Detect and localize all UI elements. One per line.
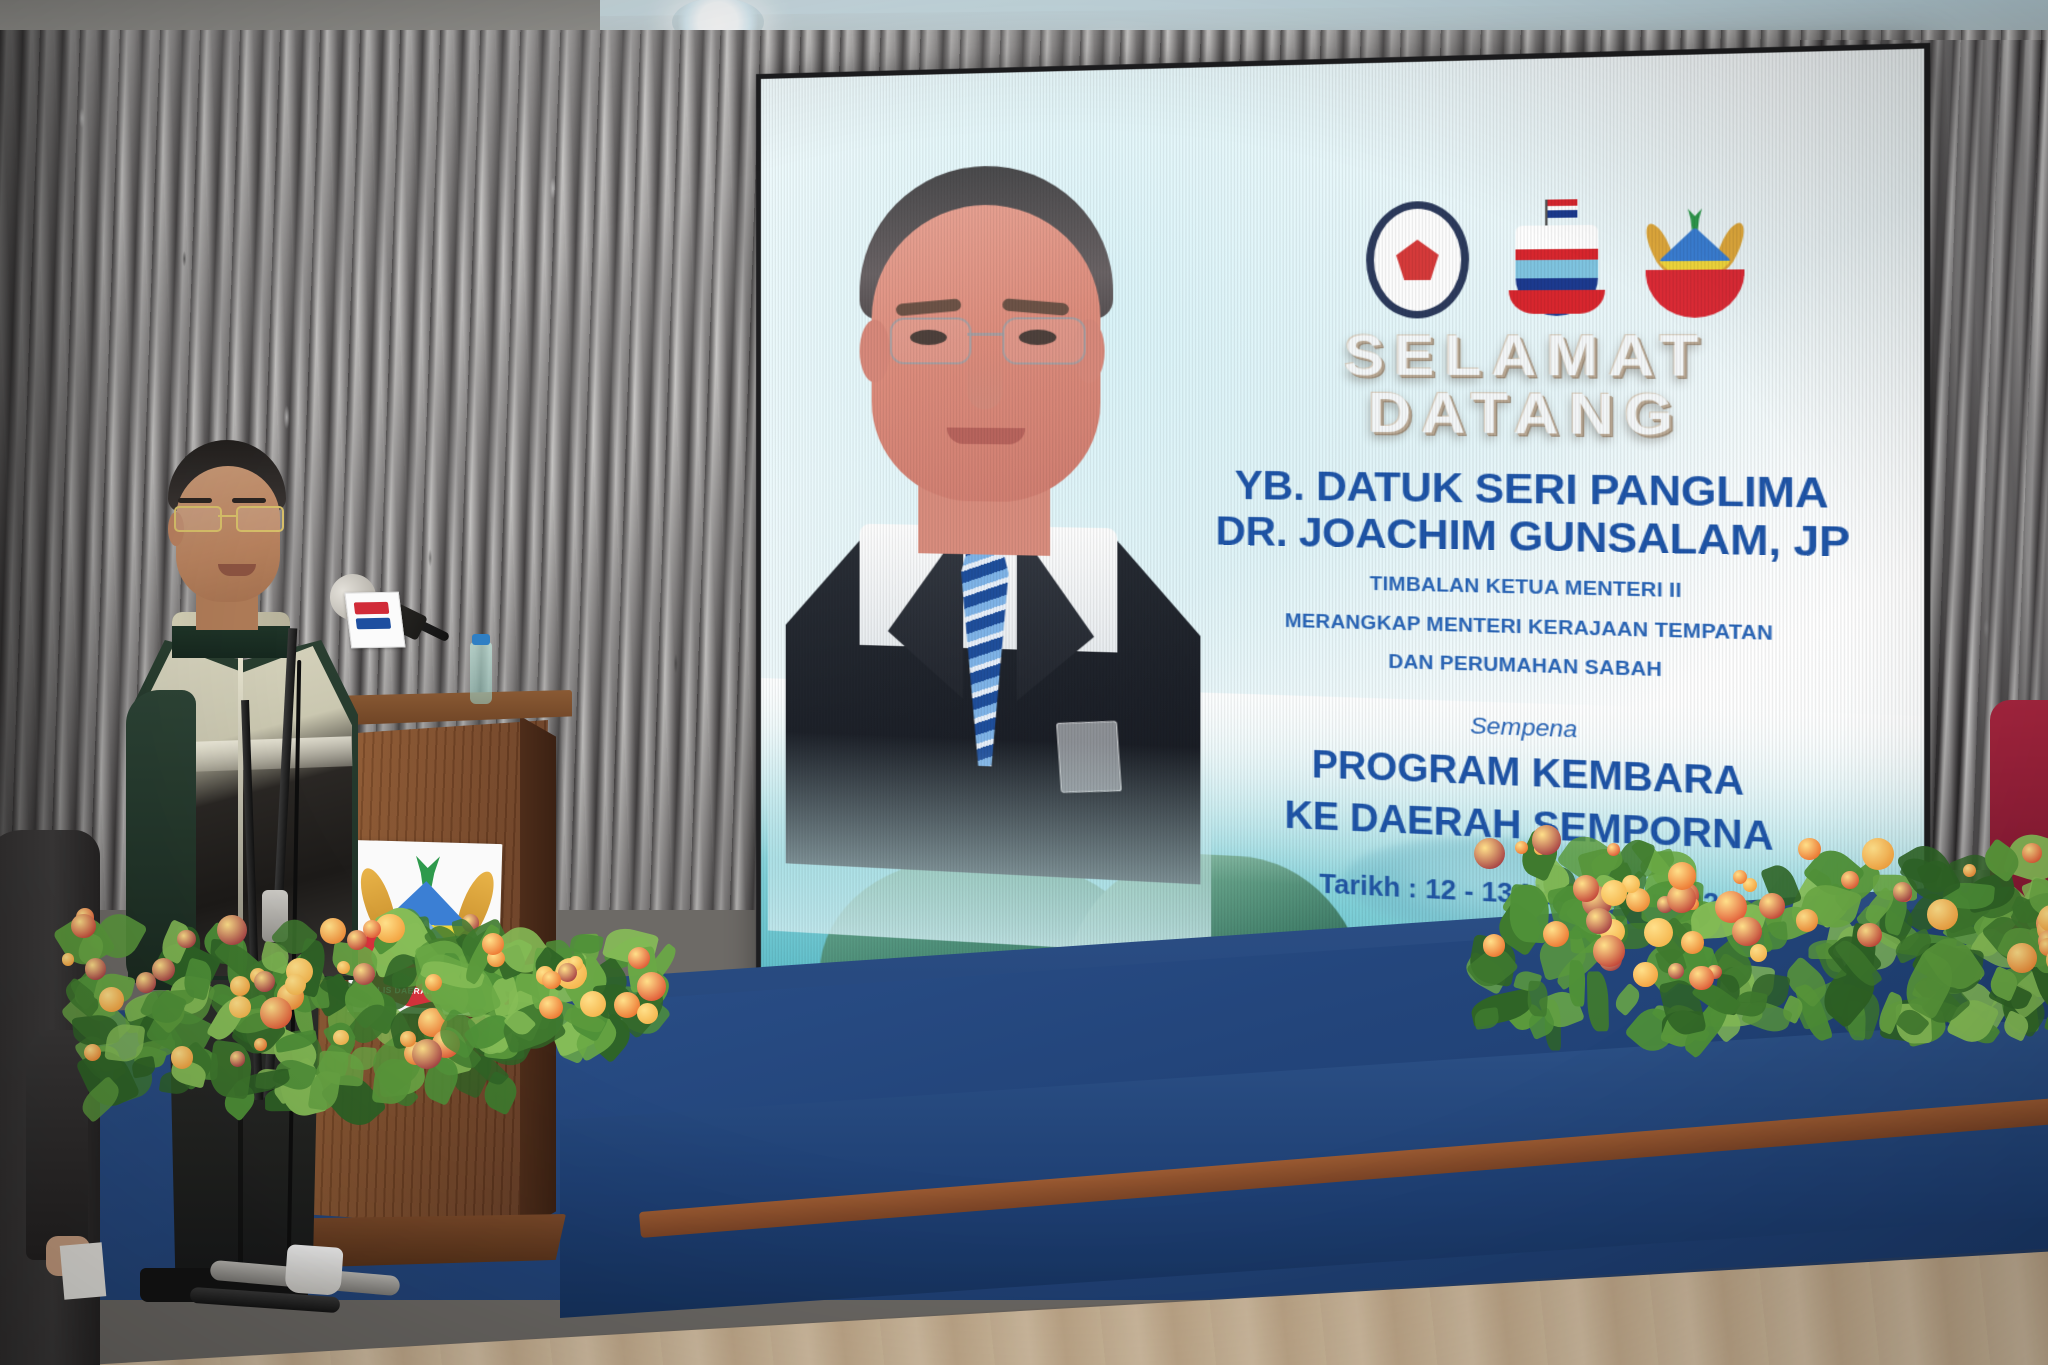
flower-bloom [400,1031,415,1046]
flower-bloom [1796,909,1819,932]
flower-bloom [1927,899,1958,930]
flower-bloom [71,914,96,939]
water-bottle[interactable] [470,642,492,704]
foreground-person-paper [60,1242,107,1299]
speaker-glasses-icon [174,506,282,530]
flower-bloom [1483,934,1505,956]
flower-bloom [482,933,504,955]
ministry-crest-icon [1366,201,1469,319]
speaker-eyebrow [178,498,212,503]
flower-bloom [1633,962,1658,987]
flower-bloom [1607,843,1620,856]
foliage-leaf [1526,981,1548,1017]
honoree-title-line1: TIMBALAN KETUA MENTERI II [1192,567,1877,607]
flower-bloom [412,1039,442,1069]
flower-bloom [84,1044,101,1061]
mic-flag-stripe-blue [356,618,392,630]
flower-bloom [254,971,275,992]
flower-bloom [1593,935,1625,967]
water-bottle-cap [472,634,490,645]
foliage-leaf [1763,921,1789,950]
flower-bloom [260,997,292,1029]
foliage-leaf [1568,960,1586,1006]
flower-bloom [1474,838,1505,869]
flower-bloom [637,1003,658,1024]
flower-bloom [1543,921,1569,947]
flower-bloom [1681,931,1704,954]
welcome-heading: SELAMAT DATANG [1192,326,1877,446]
portrait-glasses-bridge [967,333,1004,336]
flower-bloom [539,996,562,1019]
flower-bloom [1750,944,1768,962]
flower-bloom [1759,893,1785,919]
portrait-mouth [947,428,1025,445]
flower-bloom [230,1051,245,1066]
flower-bloom [285,974,306,995]
flower-bloom [85,958,107,980]
flower-bloom [1532,825,1561,854]
flower-bloom [580,991,606,1017]
mic-flag [344,592,405,649]
flower-bloom [99,987,124,1012]
event-stage-photo: SELAMAT DATANG YB. DATUK SERI PANGLIMA D… [0,0,2048,1365]
speaker-eyebrow [232,498,266,503]
mic-flag-stripe-red [354,602,390,615]
portrait-glasses-icon [1002,317,1085,364]
flower-bloom [2022,843,2042,863]
portrait-fade [768,730,1211,956]
flower-bloom [637,972,666,1001]
honoree-title-line2: MERANGKAP MENTERI KERAJAAN TEMPATAN [1192,605,1877,648]
speaker-mouth [218,564,256,576]
portrait-glasses-icon [890,317,972,364]
flower-bloom [1668,963,1684,979]
flower-bloom [217,915,247,945]
foliage-leaf [1612,982,1644,1015]
flower-bloom [1862,838,1894,870]
flower-bloom [1798,838,1820,860]
flower-bloom [1857,923,1882,948]
semporna-council-crest-icon [1646,212,1745,318]
vip-portrait [768,162,1211,883]
flower-bloom [542,971,561,990]
foliage-leaf [1587,972,1609,1032]
flower-bloom [2007,943,2037,973]
portrait-nose [967,350,1002,409]
flower-bloom [1893,882,1913,902]
speaker-face [176,466,280,602]
flower-bloom [320,918,347,945]
sabah-state-crest-icon [1509,205,1605,318]
flower-bloom [1963,864,1976,877]
flower-bloom [1689,966,1714,991]
floral-arrangement-center [420,900,640,1040]
floral-arrangement-right [1470,780,2048,1030]
flower-bloom [229,996,251,1018]
honoree-title-line3: DAN PERUMAHAN SABAH [1192,643,1877,688]
honoree-name-line2: DR. JOACHIM GUNSALAM, JP [1192,508,1877,567]
crest-row [1366,197,1744,319]
flower-bloom [62,953,74,965]
mic-stand-weight [284,1244,343,1296]
curtain-shadow-left [0,30,120,910]
portrait-ear [860,320,890,383]
